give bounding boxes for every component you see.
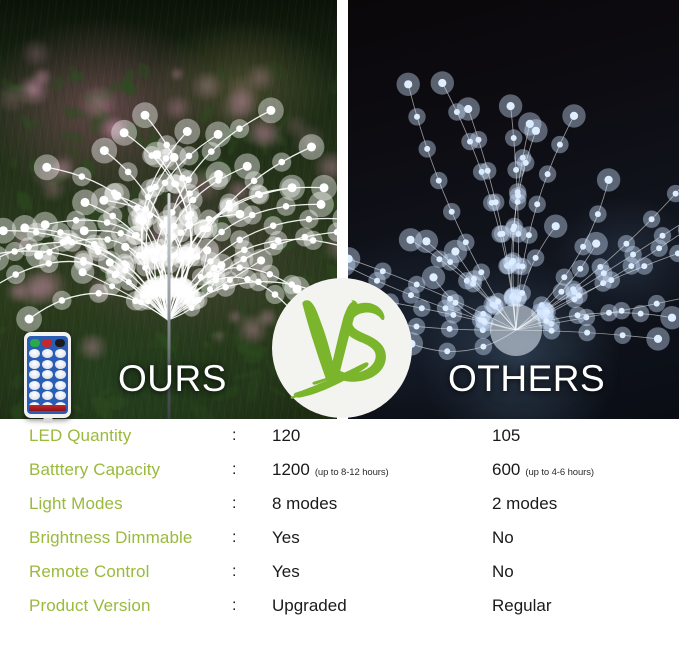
led-dot [449, 209, 455, 215]
led-dot [251, 178, 258, 185]
led-dot [95, 290, 102, 297]
led-dot [464, 105, 472, 113]
led-dot [278, 159, 285, 166]
led-dot [320, 183, 329, 192]
led-dot [577, 266, 583, 272]
remote-key [29, 381, 40, 390]
led-dot [654, 335, 662, 343]
spec-colon: : [232, 461, 236, 479]
remote-key [42, 381, 53, 390]
led-dot [513, 167, 519, 173]
led-dot [215, 177, 222, 184]
led-dot [438, 79, 446, 87]
led-dot [534, 201, 540, 207]
remote-key [42, 391, 53, 400]
led-dot [59, 297, 66, 304]
spec-value-ours-main: 1200 [272, 460, 310, 480]
led-dot [523, 160, 529, 166]
led-dot [575, 312, 581, 318]
led-dot [121, 260, 128, 267]
remote-keypad [29, 349, 66, 411]
led-dot [275, 237, 282, 244]
led-dot [515, 193, 521, 199]
led-dot [422, 237, 430, 245]
remote-control-image [24, 332, 71, 418]
led-dot [203, 246, 211, 254]
led-dot [163, 155, 170, 162]
remote-key [55, 391, 66, 400]
led-dot [208, 148, 215, 155]
spec-colon: : [232, 529, 236, 547]
spec-row: Brightness Dimmable:YesNo [0, 521, 679, 555]
led-dot [34, 251, 43, 260]
comparison-band: OURS OTHERS [0, 0, 679, 419]
spec-value-others: 2 modes [492, 494, 557, 514]
led-dot [106, 258, 114, 266]
led-dot [480, 344, 486, 350]
remote-key [55, 349, 66, 358]
led-dot [552, 222, 560, 230]
led-dot [519, 290, 525, 296]
led-dot [270, 222, 277, 229]
led-dot [196, 297, 202, 303]
led-dot [584, 330, 590, 336]
led-dot [12, 271, 19, 278]
spec-table: LED Quantity:120105Batttery Capacity:120… [0, 419, 679, 645]
led-dot [606, 310, 612, 316]
led-dot [162, 180, 169, 187]
spec-value-others-main: 105 [492, 426, 520, 446]
led-dot [453, 300, 459, 306]
led-dot [532, 127, 540, 135]
led-dot [183, 127, 192, 136]
spec-row: LED Quantity:120105 [0, 419, 679, 453]
led-dot [185, 221, 193, 229]
led-dot [257, 256, 265, 264]
spec-label: Remote Control [29, 562, 149, 582]
led-dot [217, 261, 225, 269]
spec-value-ours: Yes [272, 562, 300, 582]
spec-label: Product Version [29, 596, 151, 616]
led-dot [112, 191, 121, 200]
spec-colon: : [232, 563, 236, 581]
led-dot [100, 146, 109, 155]
burst-core [490, 304, 542, 356]
spec-colon: : [232, 597, 236, 615]
led-dot [558, 289, 564, 295]
remote-base [43, 418, 52, 423]
led-dot [526, 232, 532, 238]
led-dot [125, 169, 132, 176]
led-dot [236, 264, 243, 271]
spec-value-ours: 1200(up to 8-12 hours) [272, 460, 389, 480]
remote-key [42, 360, 53, 369]
led-dot [218, 229, 225, 236]
vs-badge [272, 278, 412, 418]
led-dot [638, 311, 644, 317]
remote-key [55, 370, 66, 379]
led-dot [227, 277, 233, 283]
spec-value-ours: 120 [272, 426, 300, 446]
led-dot [186, 153, 193, 160]
led-dot [147, 186, 154, 193]
led-dot [288, 281, 295, 288]
led-dot [266, 106, 275, 115]
led-dot [414, 282, 420, 288]
remote-key [42, 349, 53, 358]
led-dot [185, 176, 192, 183]
spec-value-others-main: Regular [492, 596, 552, 616]
led-dot [190, 197, 197, 204]
led-dot [80, 226, 89, 235]
remote-key [29, 360, 40, 369]
spec-label: LED Quantity [29, 426, 131, 446]
vs-brush-mark [286, 292, 398, 404]
led-dot [20, 223, 29, 232]
led-dot [109, 213, 116, 220]
led-dot [214, 130, 223, 139]
led-dot [444, 348, 450, 354]
led-dot [414, 114, 420, 120]
led-dot [25, 315, 34, 324]
spec-value-others-note: (up to 4-6 hours) [525, 467, 594, 478]
led-dot [656, 245, 662, 251]
led-dot [478, 269, 484, 275]
led-dot [172, 252, 178, 258]
led-dot [41, 220, 50, 229]
spec-label: Batttery Capacity [29, 460, 160, 480]
led-dot [310, 237, 317, 244]
led-dot [241, 247, 248, 254]
remote-key [29, 370, 40, 379]
remote-face [27, 336, 68, 414]
led-dot [545, 171, 551, 177]
led-dot [436, 178, 442, 184]
remote-key [29, 349, 40, 358]
led-dot [272, 291, 279, 298]
led-dot [507, 102, 515, 110]
remote-top-buttons [29, 339, 66, 347]
led-dot [104, 236, 111, 243]
led-dot [605, 176, 613, 184]
spec-value-others: No [492, 562, 514, 582]
led-dot [249, 212, 256, 219]
spec-value-others: Regular [492, 596, 552, 616]
spec-value-others-main: 600 [492, 460, 520, 480]
product-comparison-page: OURS OTHERS LED Quantity [0, 0, 679, 645]
remote-key [42, 370, 53, 379]
led-dot [121, 243, 129, 251]
led-dot [628, 263, 634, 269]
led-dot [152, 248, 158, 254]
spec-colon: : [232, 495, 236, 513]
led-dot [673, 191, 679, 197]
led-dot [485, 168, 491, 174]
led-dot [508, 260, 514, 266]
led-dot [244, 276, 251, 283]
led-dot [429, 273, 437, 281]
spec-value-others-main: 2 modes [492, 494, 557, 514]
spec-row: Product Version:UpgradedRegular [0, 589, 679, 623]
spec-rows: LED Quantity:120105Batttery Capacity:120… [0, 419, 679, 623]
led-dot [91, 241, 98, 248]
led-dot [142, 265, 148, 271]
led-dot [419, 305, 425, 311]
led-dot [141, 111, 150, 120]
spec-value-ours: Upgraded [272, 596, 347, 616]
spec-value-ours-main: 8 modes [272, 494, 337, 514]
led-dot [623, 241, 629, 247]
remote-key [55, 381, 66, 390]
led-dot [145, 298, 151, 304]
led-dot [424, 146, 430, 152]
spec-value-others: No [492, 528, 514, 548]
spec-value-others-main: No [492, 528, 514, 548]
led-dot [79, 268, 87, 276]
remote-off-button [42, 339, 52, 347]
led-dot [520, 264, 526, 270]
led-dot [630, 252, 636, 258]
led-dot [126, 279, 132, 285]
led-dot [668, 314, 676, 322]
spec-label: Light Modes [29, 494, 123, 514]
led-dot [317, 200, 326, 209]
spec-row: Light Modes:8 modes2 modes [0, 487, 679, 521]
ours-label: OURS [118, 358, 227, 400]
led-dot [57, 229, 64, 236]
led-dot [500, 231, 506, 237]
led-dot [447, 326, 453, 332]
led-dot [307, 143, 316, 152]
led-dot [620, 332, 626, 338]
led-dot [267, 271, 274, 278]
led-dot [511, 135, 517, 141]
led-dot [283, 203, 290, 210]
led-dot [120, 128, 129, 137]
spec-row: Batttery Capacity:1200(up to 8-12 hours)… [0, 453, 679, 487]
led-dot [570, 112, 578, 120]
led-dot [493, 199, 499, 205]
led-dot [608, 277, 614, 283]
led-dot [243, 162, 252, 171]
led-dot [135, 216, 143, 224]
led-dot [481, 318, 487, 324]
led-dot [408, 292, 414, 298]
remote-brand-strip [29, 405, 66, 411]
led-dot [306, 216, 313, 223]
spec-value-others: 600(up to 4-6 hours) [492, 460, 594, 480]
led-dot [549, 328, 555, 334]
spec-value-ours-main: Yes [272, 562, 300, 582]
led-dot [380, 268, 386, 274]
led-dot [451, 247, 459, 255]
spec-value-ours: Yes [272, 528, 300, 548]
led-dot [109, 283, 115, 289]
led-dot [557, 142, 563, 148]
led-dot [660, 233, 666, 239]
led-dot [533, 255, 539, 261]
led-dot [595, 211, 601, 217]
spec-value-ours-main: Yes [272, 528, 300, 548]
others-label: OTHERS [448, 358, 605, 400]
remote-power-button [30, 339, 40, 347]
led-dot [436, 256, 442, 262]
spec-value-ours-main: 120 [272, 426, 300, 446]
spec-value-others: 105 [492, 426, 520, 446]
led-dot [236, 125, 243, 132]
remote-key [29, 391, 40, 400]
spec-value-others-main: No [492, 562, 514, 582]
spec-value-ours: 8 modes [272, 494, 337, 514]
led-dot [404, 80, 412, 88]
remote-key [55, 360, 66, 369]
led-dot [576, 293, 582, 299]
remote-mode-button [55, 339, 65, 347]
spec-value-ours-note: (up to 8-12 hours) [315, 467, 389, 478]
led-dot [476, 137, 482, 143]
spec-value-ours-main: Upgraded [272, 596, 347, 616]
led-dot [81, 198, 90, 207]
led-dot [288, 185, 295, 192]
led-dot [42, 163, 51, 172]
led-dot [592, 240, 600, 248]
led-dot [654, 301, 660, 307]
led-dot [414, 324, 420, 330]
led-dot [561, 274, 567, 280]
spec-row: Remote Control:YesNo [0, 555, 679, 589]
spec-colon: : [232, 427, 236, 445]
led-dot [225, 204, 232, 211]
led-dot [406, 236, 414, 244]
led-dot [255, 191, 262, 198]
spec-label: Brightness Dimmable [29, 528, 192, 548]
led-dot [641, 263, 647, 269]
led-dot [649, 216, 655, 222]
led-dot [198, 274, 204, 280]
led-dot [495, 299, 501, 305]
led-dot [79, 173, 86, 180]
led-dot [510, 226, 516, 232]
led-dot [133, 232, 140, 239]
led-dot [463, 239, 469, 245]
